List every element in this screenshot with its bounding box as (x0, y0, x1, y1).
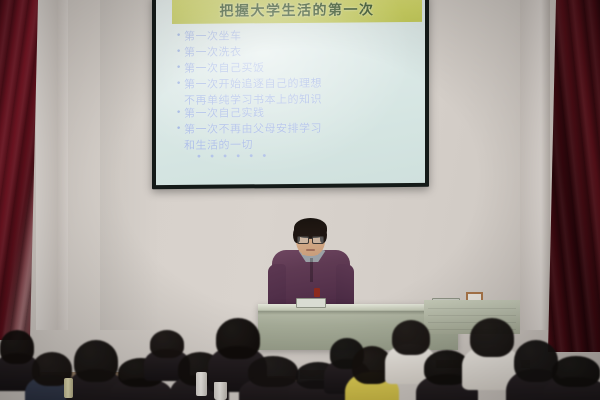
bullet-point-icon: • (176, 30, 184, 43)
list-item-label: 第一次自己买饭 (184, 61, 265, 75)
slide-bullet-list: • 第一次坐车 • 第一次洗衣 • 第一次自己买饭 • 第一次开始追逐自己的理想… (176, 28, 415, 163)
bullet-point-icon: • (176, 78, 184, 91)
list-item-label: 第一次不再由父母安排学习 (184, 122, 322, 136)
speaker-mouth (306, 249, 315, 251)
yellow-bottle (64, 378, 73, 398)
speaker-badge (314, 288, 320, 297)
list-item: • 第一次洗衣 (176, 44, 415, 59)
audience-head (150, 330, 184, 358)
wall-pillar-left (36, 0, 58, 330)
audience-head (392, 320, 430, 355)
wall-pillar-left-edge (58, 0, 68, 330)
list-item-label: 第一次坐车 (184, 29, 242, 43)
bullet-point-icon: • (176, 107, 184, 120)
audience-head (248, 356, 298, 387)
audience-head (0, 330, 34, 364)
list-item-label: 第一次洗衣 (184, 45, 242, 59)
list-item: • 第一次自己买饭 (176, 60, 415, 75)
wall-shadow (100, 0, 160, 330)
bullet-point-icon: • (176, 62, 184, 75)
lecture-hall-photo: 把握大学生活的第一次 • 第一次坐车 • 第一次洗衣 • 第一次自己买饭 • (0, 0, 600, 400)
bullet-point-icon: • (176, 46, 184, 59)
projection-screen-frame: 把握大学生活的第一次 • 第一次坐车 • 第一次洗衣 • 第一次自己买饭 • (152, 0, 429, 189)
audience-head (470, 318, 514, 357)
audience-head (216, 318, 260, 359)
list-item: • 第一次自己实践 (176, 105, 415, 120)
bullet-point-icon: • (176, 123, 184, 136)
audience-head (552, 356, 600, 387)
glasses-lens-right (312, 236, 324, 244)
paper-cup (214, 382, 227, 400)
thermos-bottle (196, 372, 207, 396)
wall-pillar-right (520, 0, 550, 330)
stage-curtain-right (548, 0, 600, 352)
list-item-label: 第一次开始追逐自己的理想 (184, 77, 322, 91)
projection-screen: 把握大学生活的第一次 • 第一次坐车 • 第一次洗衣 • 第一次自己买饭 • (156, 0, 425, 185)
list-item: • 第一次坐车 (176, 28, 415, 43)
list-item: • 第一次不再由父母安排学习 (176, 121, 415, 136)
list-item-label: 第一次自己实践 (184, 106, 265, 120)
speaker-placket (310, 258, 313, 282)
slide-title: 把握大学生活的第一次 (172, 0, 422, 21)
glasses-icon (297, 236, 324, 242)
slide-ellipsis: • • • • • • (196, 150, 415, 163)
list-item: • 第一次开始追逐自己的理想 (176, 76, 415, 91)
audience-head (74, 340, 118, 382)
slide-title-bar: 把握大学生活的第一次 (172, 0, 422, 24)
microphone-base-left (296, 298, 326, 308)
